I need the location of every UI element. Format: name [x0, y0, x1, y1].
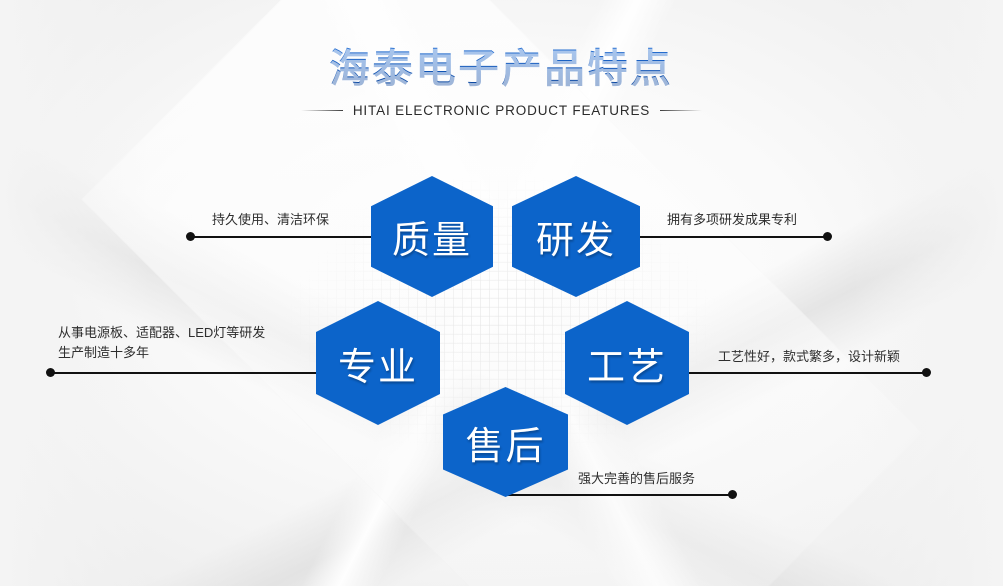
aftersales-caption: 强大完善的售后服务 [578, 469, 695, 489]
professional-caption: 从事电源板、适配器、LED灯等研发 生产制造十多年 [58, 323, 308, 363]
quality-caption: 持久使用、清洁环保 [212, 210, 329, 230]
hexagon-craft-label: 工艺 [587, 336, 667, 391]
connector-line-quality [192, 236, 374, 238]
professional-caption-line-2: 生产制造十多年 [58, 343, 308, 363]
subtitle-dash-right [660, 110, 702, 111]
craft-caption: 工艺性好，款式繁多，设计新颖 [718, 347, 900, 367]
hexagon-aftersales-label: 售后 [465, 415, 545, 470]
page-title: 海泰电子产品特点 [0, 44, 1003, 94]
connector-dot-craft [922, 368, 931, 377]
professional-caption-line-1: 从事电源板、适配器、LED灯等研发 [58, 323, 308, 343]
page-subtitle: HITAI ELECTRONIC PRODUCT FEATURES [353, 103, 650, 118]
connector-line-aftersales [503, 494, 735, 496]
rd-caption: 拥有多项研发成果专利 [667, 210, 797, 230]
connector-dot-rd [823, 232, 832, 241]
connector-line-craft [688, 372, 929, 374]
connector-dot-aftersales [728, 490, 737, 499]
connector-dot-quality [186, 232, 195, 241]
connector-line-rd [638, 236, 830, 238]
hexagon-rd-label: 研发 [536, 209, 616, 264]
hexagon-professional-label: 专业 [338, 336, 418, 391]
subtitle-dash-left [301, 110, 343, 111]
connector-line-professional [52, 372, 320, 374]
connector-dot-professional [46, 368, 55, 377]
infographic-canvas: 海泰电子产品特点 HITAI ELECTRONIC PRODUCT FEATUR… [0, 0, 1003, 586]
subtitle-row: HITAI ELECTRONIC PRODUCT FEATURES [0, 103, 1003, 118]
hexagon-quality-label: 质量 [392, 209, 472, 264]
page-header: 海泰电子产品特点 HITAI ELECTRONIC PRODUCT FEATUR… [0, 44, 1003, 118]
